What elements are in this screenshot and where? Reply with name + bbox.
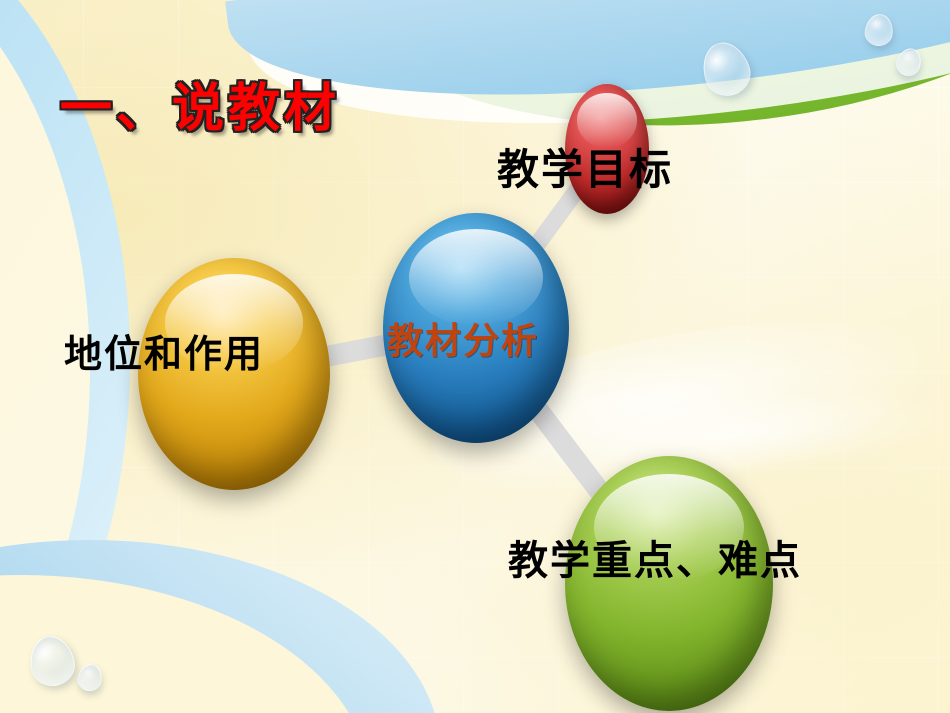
page-title: 一、说教材 xyxy=(60,66,340,141)
node-label-goal: 教学目标 xyxy=(497,136,673,197)
node-label-center: 教材分析 xyxy=(387,312,539,364)
node-label-role: 地位和作用 xyxy=(64,323,264,378)
node-label-key: 教学重点、难点 xyxy=(508,528,802,586)
slide-canvas: 一、说教材 教学目标 地位和作用 教学重点、难点 教材分析 xyxy=(0,0,950,713)
